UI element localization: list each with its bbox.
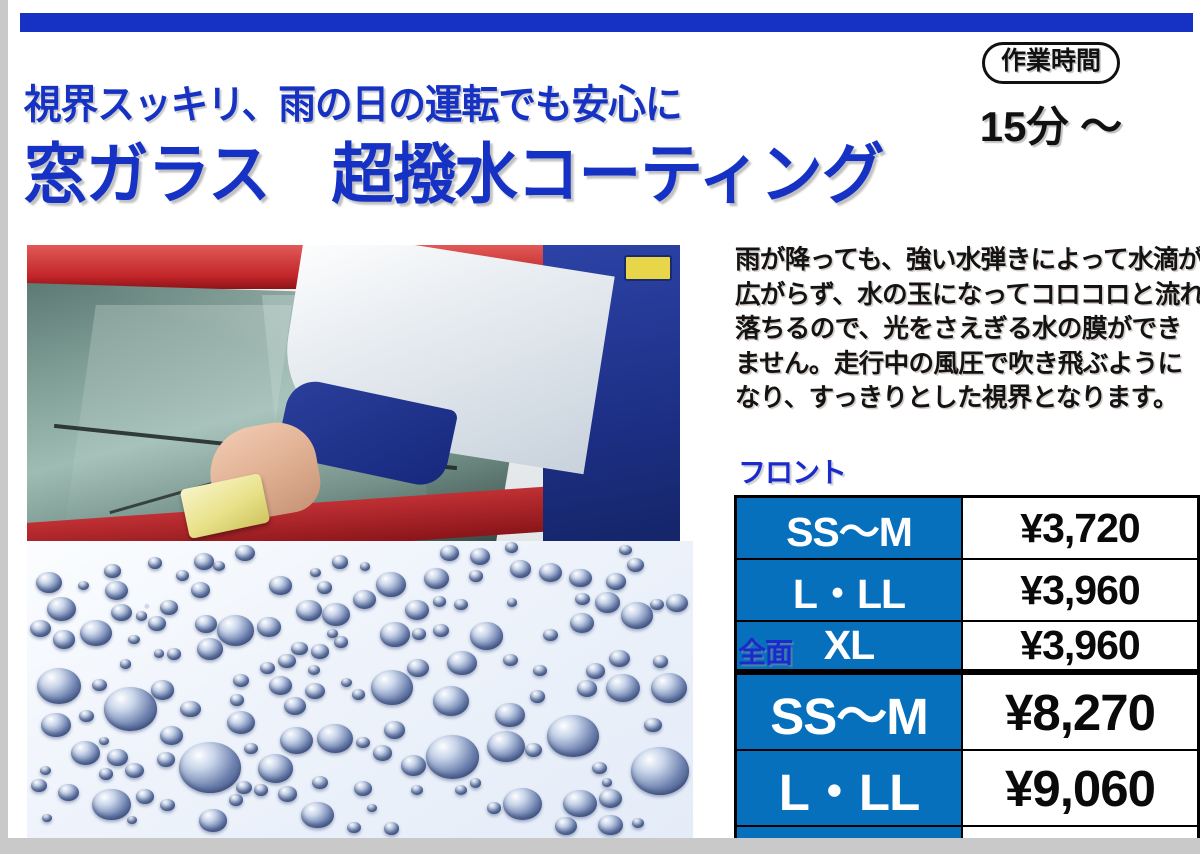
water-bead bbox=[136, 789, 154, 804]
water-bead bbox=[621, 602, 653, 628]
water-bead bbox=[235, 545, 255, 561]
water-bead bbox=[433, 686, 470, 716]
water-bead bbox=[371, 670, 413, 705]
water-bead bbox=[543, 629, 558, 641]
water-bead bbox=[194, 553, 214, 570]
water-bead bbox=[148, 616, 166, 631]
water-bead bbox=[470, 778, 482, 788]
water-bead bbox=[455, 785, 467, 795]
water-bead bbox=[356, 737, 369, 748]
water-bead bbox=[433, 596, 445, 606]
water-bead bbox=[278, 654, 296, 669]
water-bead bbox=[327, 629, 338, 638]
water-bead bbox=[311, 644, 328, 658]
water-bead bbox=[157, 752, 175, 767]
water-bead bbox=[433, 624, 449, 637]
poster-page: 視界スッキリ、雨の日の運転でも安心に 窓ガラス 超撥水コーティング 作業時間 1… bbox=[8, 0, 1200, 846]
table-row: L・LL ¥9,060 bbox=[736, 750, 1199, 826]
price-cell: ¥3,960 bbox=[962, 559, 1199, 621]
water-bead bbox=[80, 620, 112, 646]
water-bead bbox=[244, 743, 258, 754]
water-bead bbox=[312, 776, 328, 789]
water-bead bbox=[151, 680, 175, 700]
water-bead bbox=[111, 604, 132, 621]
table-row: XL ¥9,860 bbox=[736, 826, 1199, 846]
water-bead bbox=[376, 572, 406, 597]
water-bead bbox=[291, 642, 307, 655]
water-bead bbox=[353, 590, 376, 609]
water-bead bbox=[191, 582, 210, 597]
water-bead bbox=[199, 809, 226, 831]
water-bead bbox=[332, 555, 348, 568]
water-bead bbox=[424, 568, 449, 589]
top-accent-bar bbox=[20, 13, 1193, 32]
water-bead bbox=[384, 822, 400, 835]
water-bead bbox=[269, 576, 291, 594]
water-bead bbox=[317, 581, 332, 594]
size-cell: L・LL bbox=[736, 750, 963, 826]
size-cell: L・LL bbox=[736, 559, 963, 621]
water-bead bbox=[197, 638, 223, 659]
water-bead bbox=[347, 822, 360, 833]
price-cell: ¥9,060 bbox=[962, 750, 1199, 826]
table-row: XL ¥3,960 bbox=[736, 621, 1199, 671]
poster-title: 窓ガラス 超撥水コーティング bbox=[24, 121, 883, 217]
water-bead bbox=[47, 597, 76, 621]
water-bead bbox=[495, 703, 525, 727]
water-bead bbox=[284, 697, 306, 715]
water-bead bbox=[503, 788, 542, 820]
water-bead bbox=[195, 615, 217, 633]
water-bead bbox=[104, 687, 157, 731]
water-bead bbox=[92, 789, 131, 821]
water-bead bbox=[563, 790, 596, 817]
table-row: SS〜M ¥8,270 bbox=[736, 674, 1199, 751]
water-bead bbox=[539, 563, 562, 582]
water-bead bbox=[125, 763, 144, 778]
work-time-block: 作業時間 15分 〜 bbox=[971, 42, 1131, 154]
water-bead bbox=[487, 731, 525, 762]
water-bead bbox=[533, 665, 546, 676]
water-bead bbox=[606, 674, 640, 702]
water-bead bbox=[180, 701, 200, 718]
water-bead bbox=[440, 545, 459, 561]
water-bead bbox=[505, 542, 518, 553]
price-cell: ¥9,860 bbox=[962, 826, 1199, 846]
water-bead bbox=[447, 651, 476, 675]
water-bead bbox=[280, 727, 313, 754]
water-bead bbox=[631, 747, 689, 795]
water-bead bbox=[179, 742, 241, 793]
water-bead bbox=[602, 778, 613, 787]
water-bead bbox=[78, 581, 89, 590]
water-bead bbox=[258, 754, 293, 783]
water-bead bbox=[401, 755, 426, 776]
water-bead bbox=[606, 573, 626, 589]
water-bead bbox=[160, 600, 178, 615]
water-bead bbox=[360, 562, 371, 571]
water-bead bbox=[598, 815, 622, 835]
water-bead bbox=[148, 557, 162, 568]
price-table-front: SS〜M ¥3,720 L・LL ¥3,960 XL ¥3,960 bbox=[734, 495, 1200, 672]
water-bead bbox=[53, 630, 76, 649]
water-bead bbox=[507, 598, 517, 606]
size-cell: XL bbox=[736, 826, 963, 846]
water-bead bbox=[373, 745, 392, 761]
price-cell: ¥3,720 bbox=[962, 497, 1199, 560]
water-bead bbox=[322, 603, 350, 626]
water-bead bbox=[547, 715, 599, 757]
price-cell: ¥3,960 bbox=[962, 621, 1199, 671]
water-bead bbox=[619, 545, 632, 556]
size-cell: SS〜M bbox=[736, 497, 963, 560]
water-bead bbox=[257, 617, 281, 637]
water-bead bbox=[301, 802, 334, 829]
water-bead bbox=[296, 600, 321, 621]
water-bead bbox=[653, 655, 668, 667]
water-bead bbox=[107, 749, 127, 766]
water-bead bbox=[254, 784, 268, 796]
water-bead bbox=[227, 711, 255, 734]
water-bead bbox=[40, 766, 51, 775]
water-bead bbox=[411, 785, 423, 795]
water-bead bbox=[160, 726, 183, 745]
price-table-full: SS〜M ¥8,270 L・LL ¥9,060 XL ¥9,860 bbox=[734, 672, 1200, 846]
water-bead bbox=[352, 689, 365, 700]
table-row: L・LL ¥3,960 bbox=[736, 559, 1199, 621]
water-bead bbox=[510, 560, 531, 577]
water-bead bbox=[644, 718, 662, 733]
water-bead bbox=[71, 741, 100, 765]
water-bead bbox=[470, 622, 503, 649]
uniform-badge-icon bbox=[624, 255, 672, 281]
water-bead bbox=[609, 650, 630, 667]
water-bead bbox=[469, 570, 483, 582]
water-bead bbox=[105, 581, 128, 600]
description-paragraph: 雨が降っても、強い水弾きによって水滴が広がらず、水の玉になってコロコロと流れ落ち… bbox=[735, 243, 1200, 416]
work-time-value: 15分 〜 bbox=[971, 93, 1131, 154]
water-bead bbox=[104, 564, 120, 577]
water-bead bbox=[269, 676, 292, 695]
table-row: SS〜M ¥3,720 bbox=[736, 497, 1199, 560]
water-bead bbox=[120, 659, 131, 668]
windshield-application-photo bbox=[27, 245, 680, 541]
water-bead bbox=[334, 636, 348, 647]
price-table-label-front: フロント bbox=[738, 451, 846, 491]
water-bead bbox=[236, 781, 252, 794]
water-bead bbox=[384, 721, 406, 739]
water-bead bbox=[136, 611, 148, 621]
water-bead bbox=[405, 600, 429, 620]
water-bead bbox=[341, 678, 352, 687]
water-bead bbox=[569, 569, 592, 588]
water-bead bbox=[31, 779, 47, 792]
water-bead bbox=[487, 802, 501, 814]
work-time-badge: 作業時間 bbox=[982, 42, 1120, 84]
water-bead bbox=[632, 818, 644, 828]
water-bead bbox=[650, 599, 664, 610]
size-cell: SS〜M bbox=[736, 674, 963, 751]
water-bead bbox=[176, 570, 189, 581]
water-bead bbox=[530, 690, 545, 703]
water-bead bbox=[30, 620, 51, 637]
water-bead bbox=[128, 635, 139, 644]
price-cell: ¥8,270 bbox=[962, 674, 1199, 751]
water-bead bbox=[99, 768, 113, 780]
water-bead bbox=[37, 668, 81, 704]
water-bead bbox=[651, 673, 687, 703]
water-bead bbox=[577, 680, 597, 697]
water-bead bbox=[380, 622, 410, 646]
water-beading-photo bbox=[27, 541, 693, 838]
water-bead bbox=[412, 628, 426, 639]
price-table-label-full: 全面 bbox=[738, 631, 792, 671]
